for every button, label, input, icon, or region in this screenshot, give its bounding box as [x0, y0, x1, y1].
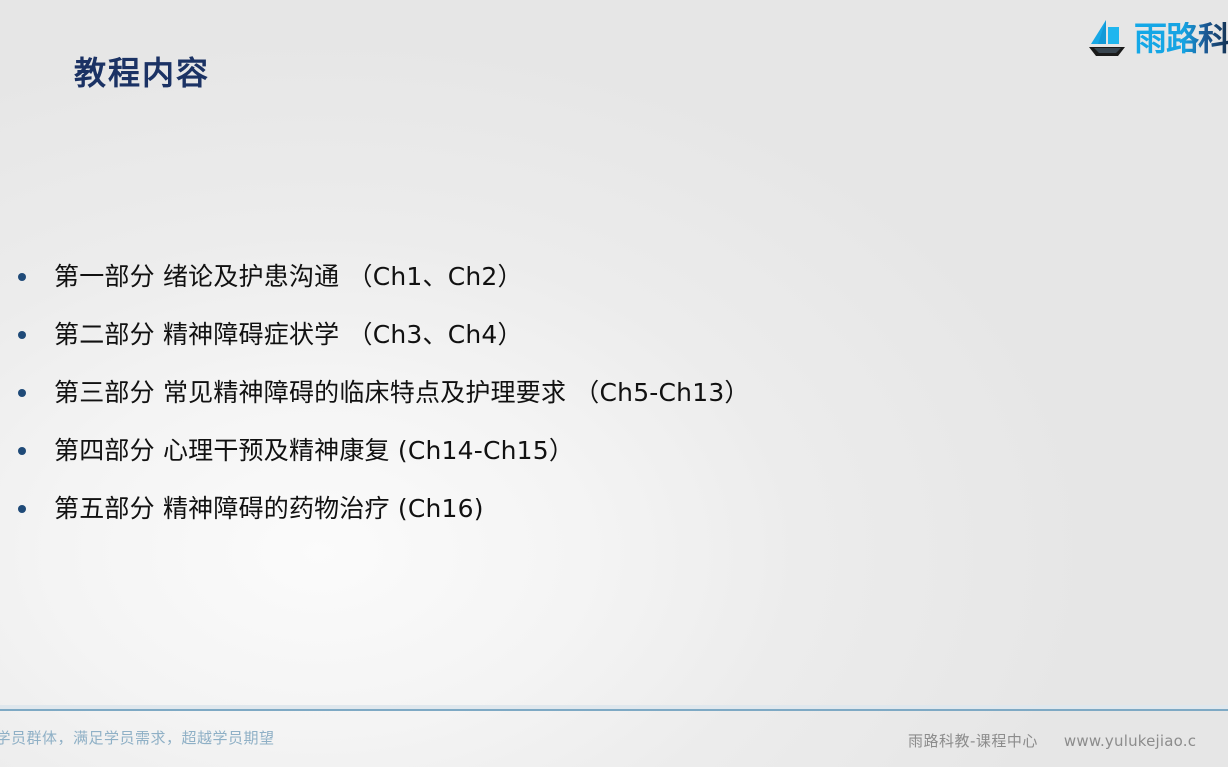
- logo-wordmark: 雨路科: [1134, 22, 1228, 55]
- footer-brand-group: 雨路科教-课程中心 www.yulukejiao.c: [908, 730, 1228, 751]
- list-item-label: 第五部分 精神障碍的药物治疗 (Ch16): [54, 495, 484, 523]
- slide-canvas: 雨路科 教程内容 第一部分 绪论及护患沟通 （Ch1、Ch2） 第二部分 精神障…: [0, 0, 1228, 767]
- bullet-dot-icon: [18, 505, 26, 513]
- bullet-dot-icon: [18, 447, 26, 455]
- list-item: 第四部分 心理干预及精神康复 (Ch14-Ch15）: [0, 422, 1228, 480]
- list-item: 第五部分 精神障碍的药物治疗 (Ch16): [0, 480, 1228, 538]
- sailboat-icon: [1085, 18, 1129, 58]
- bullet-dot-icon: [18, 389, 26, 397]
- list-item-label: 第四部分 心理干预及精神康复 (Ch14-Ch15）: [54, 437, 574, 465]
- list-item-label: 第一部分 绪论及护患沟通 （Ch1、Ch2）: [54, 263, 523, 291]
- list-item: 第三部分 常见精神障碍的临床特点及护理要求 （Ch5-Ch13）: [0, 364, 1228, 422]
- page-title: 教程内容: [74, 54, 210, 92]
- outline-list: 第一部分 绪论及护患沟通 （Ch1、Ch2） 第二部分 精神障碍症状学 （Ch3…: [0, 248, 1228, 538]
- list-item: 第二部分 精神障碍症状学 （Ch3、Ch4）: [0, 306, 1228, 364]
- bullet-dot-icon: [18, 331, 26, 339]
- footer-url-label: www.yulukejiao.c: [1064, 732, 1196, 750]
- list-item-label: 第三部分 常见精神障碍的临床特点及护理要求 （Ch5-Ch13）: [54, 379, 750, 407]
- footer-divider: [0, 709, 1228, 711]
- list-item: 第一部分 绪论及护患沟通 （Ch1、Ch2）: [0, 248, 1228, 306]
- footer-brand-label: 雨路科教-课程中心: [908, 730, 1038, 751]
- brand-logo: 雨路科: [1085, 14, 1228, 62]
- list-item-label: 第二部分 精神障碍症状学 （Ch3、Ch4）: [54, 321, 523, 349]
- bullet-dot-icon: [18, 273, 26, 281]
- footer-slogan: 处学员群体，满足学员需求，超越学员期望: [0, 729, 275, 747]
